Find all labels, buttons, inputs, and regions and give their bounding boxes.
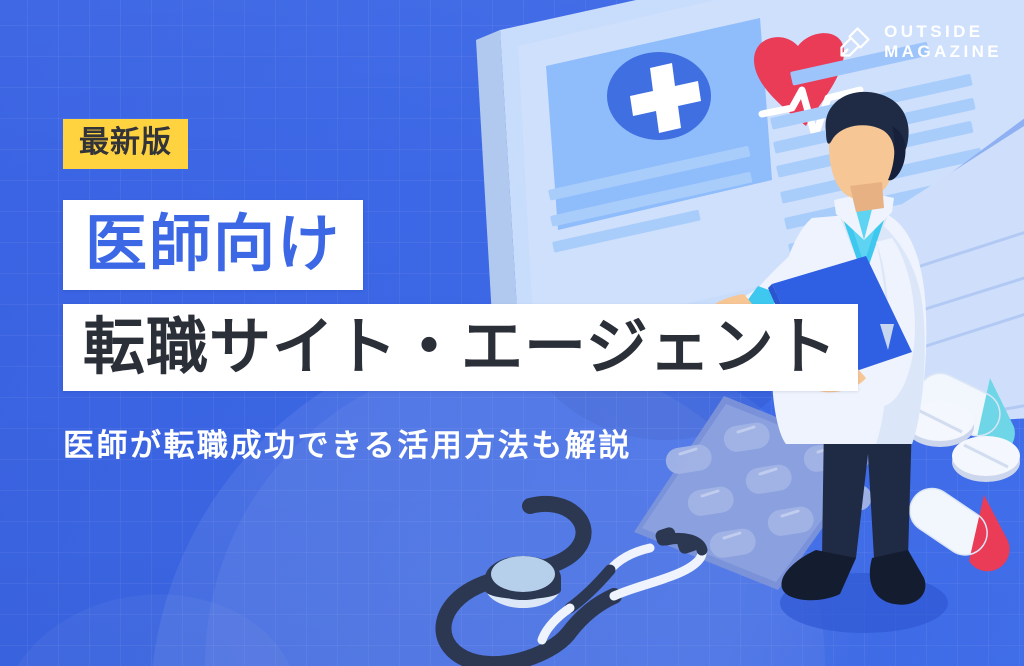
brand-logo: OUTSIDE MAGAZINE bbox=[838, 22, 1002, 62]
subtitle-text: 医師が転職成功できる活用方法も解説 bbox=[63, 420, 632, 465]
banner-canvas: 最新版 医師向け 転職サイト・エージェント 医師が転職成功できる活用方法も解説 … bbox=[0, 0, 1024, 666]
title-line-1-text: 医師向け bbox=[85, 214, 341, 276]
title-box-line-1: 医師向け bbox=[63, 200, 363, 290]
pen-nib-icon bbox=[838, 25, 872, 59]
title-line-2-text: 転職サイト・エージェント bbox=[83, 317, 838, 379]
brand-logo-wordmark: OUTSIDE MAGAZINE bbox=[884, 22, 1002, 62]
brand-logo-line-1: OUTSIDE bbox=[884, 22, 1002, 42]
brand-logo-line-2: MAGAZINE bbox=[884, 42, 1002, 62]
new-edition-badge: 最新版 bbox=[63, 119, 188, 169]
title-box-line-2: 転職サイト・エージェント bbox=[63, 304, 858, 391]
stethoscope bbox=[418, 478, 758, 666]
